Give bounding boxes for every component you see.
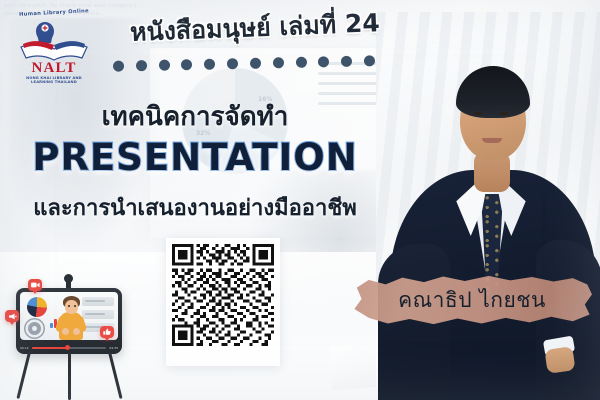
pie-chart-icon [27, 297, 47, 317]
elapsed-time: 00:12 [20, 346, 29, 350]
speaker-name-banner: คณาธิป ไกยชน [352, 272, 592, 328]
avatar-body [59, 312, 83, 340]
video-player-controls[interactable]: 00:12 04:35 [20, 344, 118, 351]
portrait-hand [544, 346, 575, 374]
avatar-hand-right [73, 328, 80, 335]
poster-canvas: each data point. Pie charts show each ca… [0, 0, 600, 400]
portrait-mouth [482, 138, 502, 143]
speaker-name: คณาธิป ไกยชน [352, 272, 592, 328]
thumbs-up-icon [100, 326, 114, 338]
video-camera-icon [28, 279, 42, 291]
qr-code-panel[interactable] [166, 238, 280, 366]
total-time: 04:35 [109, 346, 118, 350]
portrait-eye-left [474, 112, 482, 115]
easel-legs [4, 352, 134, 400]
avatar-face [65, 300, 78, 314]
presentation-easel-illustration: 00:12 04:35 [4, 262, 134, 400]
nalt-logo: Human Library Online NALT NONG KHAI LIBR… [17, 10, 91, 88]
logo-wordmark: NALT [17, 61, 91, 75]
title-line-2: PRESENTATION [0, 136, 390, 179]
gear-icon [28, 322, 41, 335]
progress-scrubber[interactable] [32, 347, 107, 349]
qr-code-icon[interactable] [172, 244, 274, 346]
logo-subtitle: NONG KHAI LIBRARY AND LEARNING THAILAND [17, 76, 91, 84]
avatar-eye-right [74, 305, 76, 307]
title-line-1: เทคนิคการจัดทำ [0, 96, 390, 137]
speaker-portrait [376, 12, 600, 400]
title-line-3: และการนำเสนองานอย่างมืออาชีพ [0, 190, 390, 225]
easel-board: 00:12 04:35 [16, 288, 122, 354]
logo-emblem-icon [17, 17, 91, 63]
issue-kicker-text: หนังสือมนุษย์ เล่มที่ 24 [130, 8, 381, 47]
avatar-eye-left [68, 305, 70, 307]
megaphone-icon [5, 310, 19, 322]
presenter-avatar [58, 296, 84, 340]
portrait-eye-right [500, 112, 508, 115]
avatar-hand-left [62, 328, 69, 335]
